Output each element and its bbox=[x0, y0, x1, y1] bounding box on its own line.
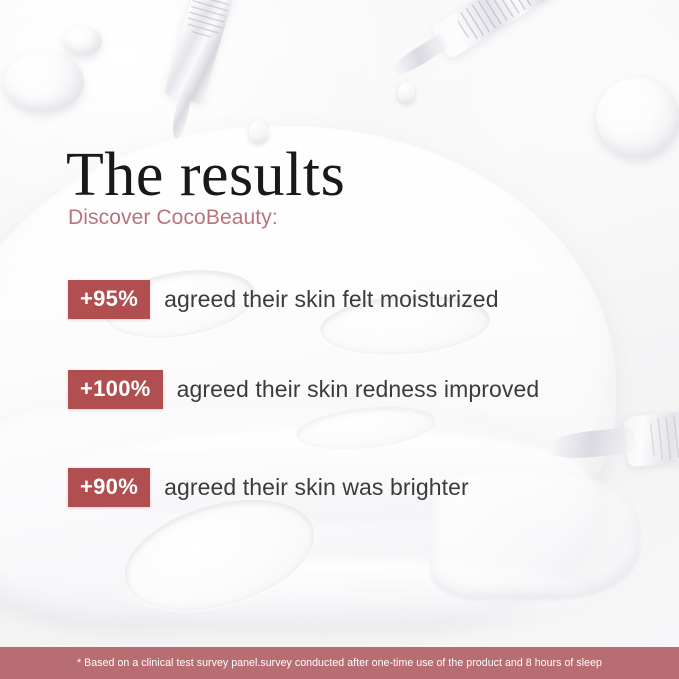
footnote-bar: * Based on a clinical test survey panel.… bbox=[0, 647, 679, 679]
stat-statement-brighter: agreed their skin was brighter bbox=[164, 474, 469, 501]
stat-badge-moisturized: +95% bbox=[68, 280, 150, 319]
marketing-image-canvas: The results Discover CocoBeauty: +95% ag… bbox=[0, 0, 679, 679]
stat-row: +100% agreed their skin redness improved bbox=[68, 370, 539, 409]
stat-row: +95% agreed their skin felt moisturized bbox=[68, 280, 499, 319]
stat-row: +90% agreed their skin was brighter bbox=[68, 468, 469, 507]
stat-badge-redness: +100% bbox=[68, 370, 163, 409]
stat-statement-redness: agreed their skin redness improved bbox=[177, 376, 540, 403]
stat-badge-brighter: +90% bbox=[68, 468, 150, 507]
text-content-layer: The results Discover CocoBeauty: +95% ag… bbox=[0, 0, 679, 679]
footnote-text: * Based on a clinical test survey panel.… bbox=[77, 657, 602, 669]
page-title: The results bbox=[66, 144, 345, 206]
stat-statement-moisturized: agreed their skin felt moisturized bbox=[164, 286, 499, 313]
page-subtitle: Discover CocoBeauty: bbox=[68, 206, 278, 230]
